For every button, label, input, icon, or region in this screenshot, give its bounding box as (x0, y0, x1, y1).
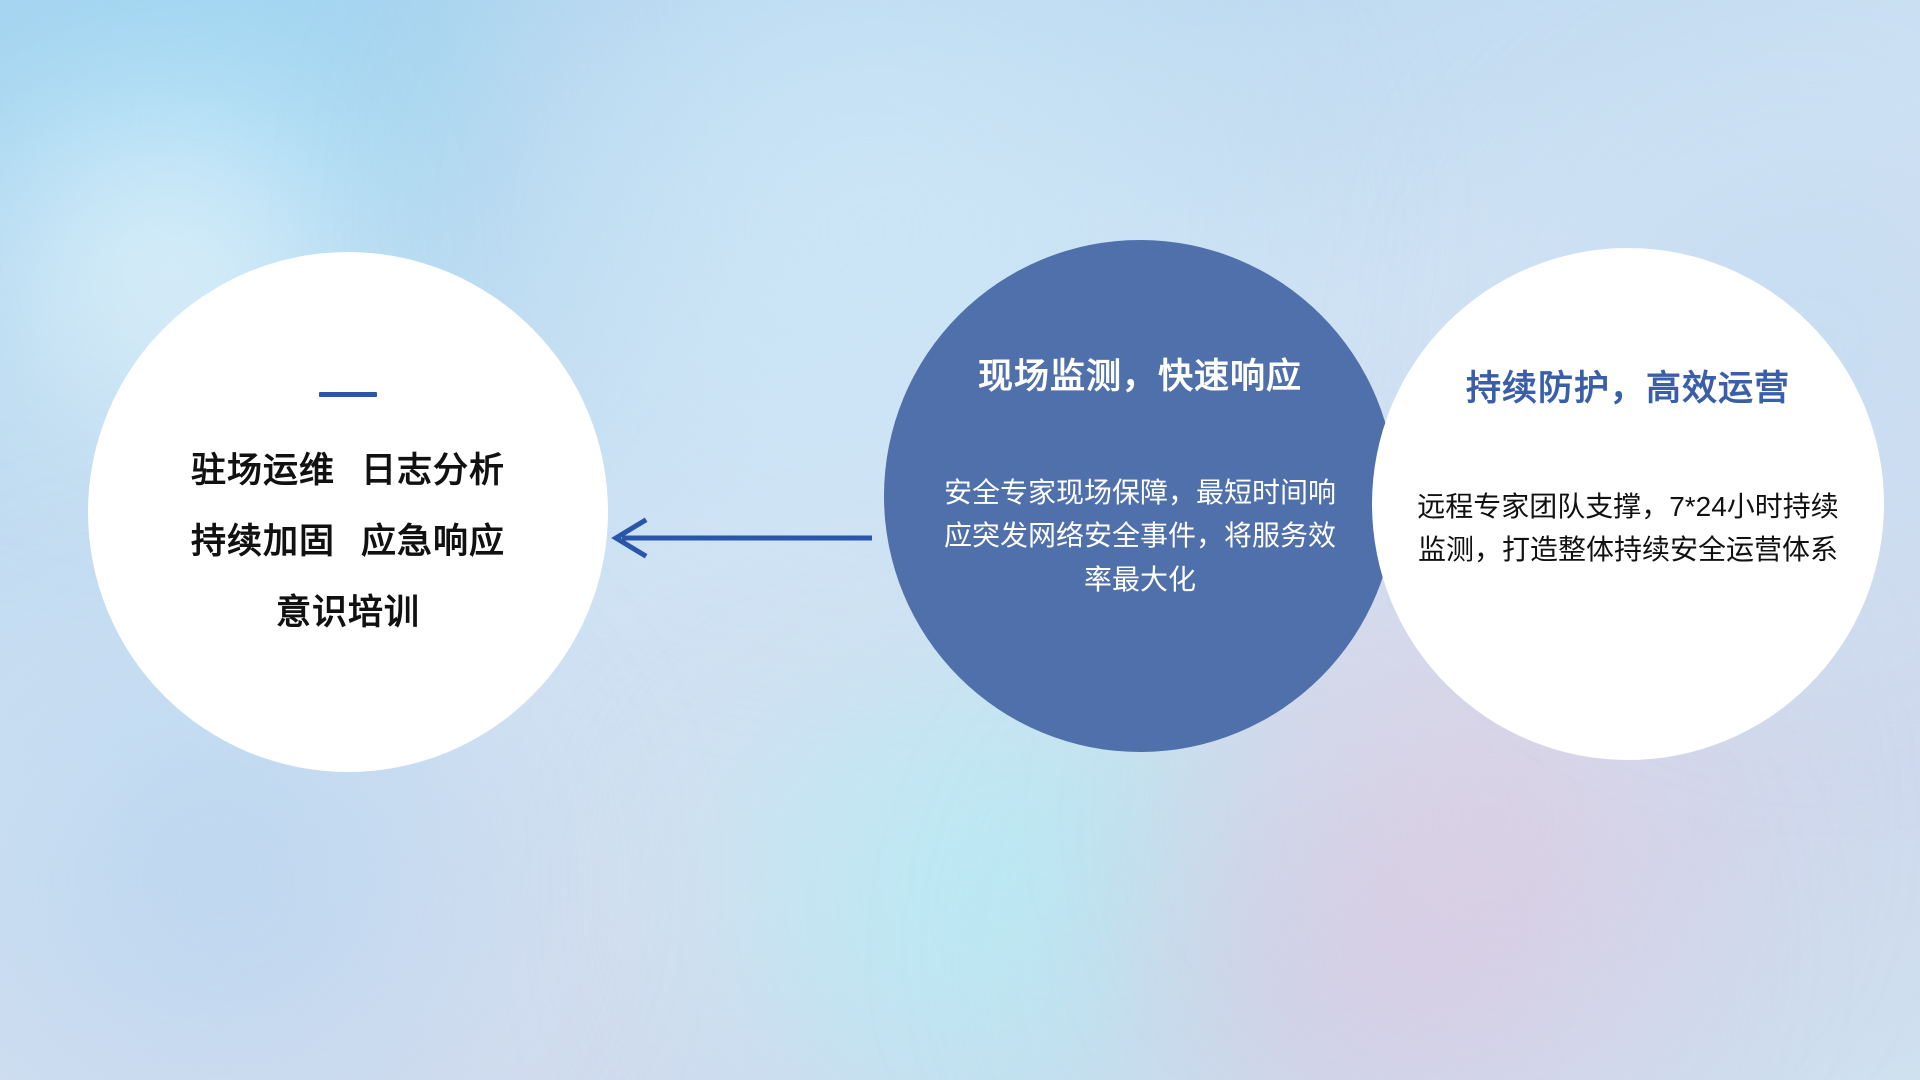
connector-arrow-left-icon (600, 508, 880, 568)
left-circle-tag-2: 日志分析 (361, 451, 505, 490)
right-circle-body: 远程专家团队支撑，7*24小时持续监测，打造整体持续安全运营体系 (1382, 485, 1874, 572)
middle-circle-content: 现场监测，快速响应 安全专家现场保障，最短时间响应突发网络安全事件，将服务效率最… (900, 348, 1380, 601)
divider-dash-icon (319, 392, 377, 397)
middle-circle-card[interactable]: 现场监测，快速响应 安全专家现场保障，最短时间响应突发网络安全事件，将服务效率最… (884, 240, 1396, 752)
left-circle-tag-5: 意识培训 (276, 593, 420, 632)
left-circle-tag-1: 驻场运维 (191, 451, 335, 490)
left-circle-line-1: 驻场运维日志分析 (128, 453, 568, 488)
middle-circle-body: 安全专家现场保障，最短时间响应突发网络安全事件，将服务效率最大化 (900, 471, 1380, 601)
right-circle-content: 持续防护，高效运营 远程专家团队支撑，7*24小时持续监测，打造整体持续安全运营… (1382, 360, 1874, 572)
left-circle-line-3: 意识培训 (128, 595, 568, 630)
left-circle-tag-4: 应急响应 (361, 522, 505, 561)
middle-circle-title: 现场监测，快速响应 (900, 348, 1380, 399)
slide-canvas: 现场监测，快速响应 安全专家现场保障，最短时间响应突发网络安全事件，将服务效率最… (0, 0, 1920, 1080)
left-circle-content: 驻场运维日志分析 持续加固应急响应 意识培训 (88, 392, 608, 630)
left-circle-tag-3: 持续加固 (191, 522, 335, 561)
right-circle-card[interactable]: 持续防护，高效运营 远程专家团队支撑，7*24小时持续监测，打造整体持续安全运营… (1372, 248, 1884, 760)
left-circle-card[interactable]: 驻场运维日志分析 持续加固应急响应 意识培训 (88, 252, 608, 772)
right-circle-title: 持续防护，高效运营 (1382, 360, 1874, 411)
left-circle-line-2: 持续加固应急响应 (128, 524, 568, 559)
